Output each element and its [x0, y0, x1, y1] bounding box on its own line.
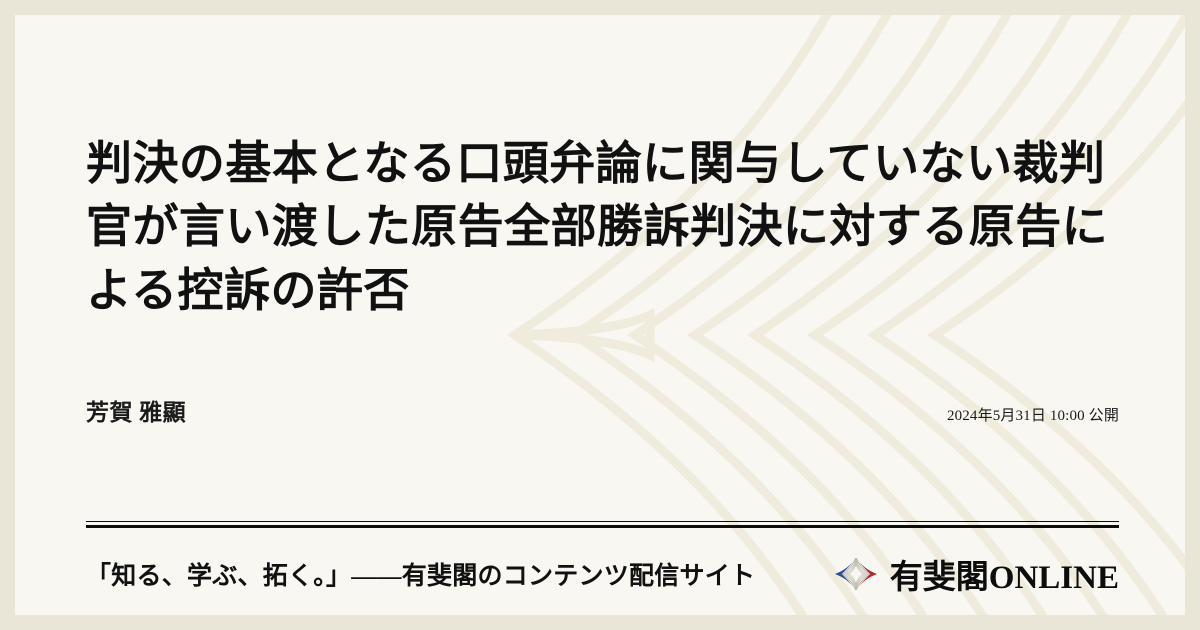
card-inner-panel: 判決の基本となる口頭弁論に関与していない裁判官が言い渡した原告全部勝訴判決に対す…: [15, 15, 1185, 615]
footer-divider: [86, 521, 1119, 528]
divider-rule-thin: [86, 521, 1119, 522]
published-date: 2024年5月31日 10:00 公開: [947, 404, 1119, 425]
card-footer: 「知る、学ぶ、拓く。」——有斐閣のコンテンツ配信サイト: [86, 550, 1119, 598]
author-name: 芳賀 雅顯: [86, 393, 186, 427]
page-title: 判決の基本となる口頭弁論に関与していない裁判官が言い渡した原告全部勝訴判決に対す…: [86, 132, 1119, 322]
brand-lockup: 有斐閣ONLINE: [832, 550, 1119, 598]
divider-rule-thick: [86, 525, 1119, 528]
article-meta: 芳賀 雅顯 2024年5月31日 10:00 公開: [86, 393, 1119, 427]
ogp-card: 判決の基本となる口頭弁論に関与していない裁判官が言い渡した原告全部勝訴判決に対す…: [0, 0, 1200, 630]
brand-name: 有斐閣ONLINE: [890, 550, 1119, 598]
yuhikaku-diamond-logo-icon: [832, 556, 880, 592]
card-content: 判決の基本となる口頭弁論に関与していない裁判官が言い渡した原告全部勝訴判決に対す…: [15, 15, 1185, 615]
site-tagline: 「知る、学ぶ、拓く。」——有斐閣のコンテンツ配信サイト: [86, 556, 755, 592]
